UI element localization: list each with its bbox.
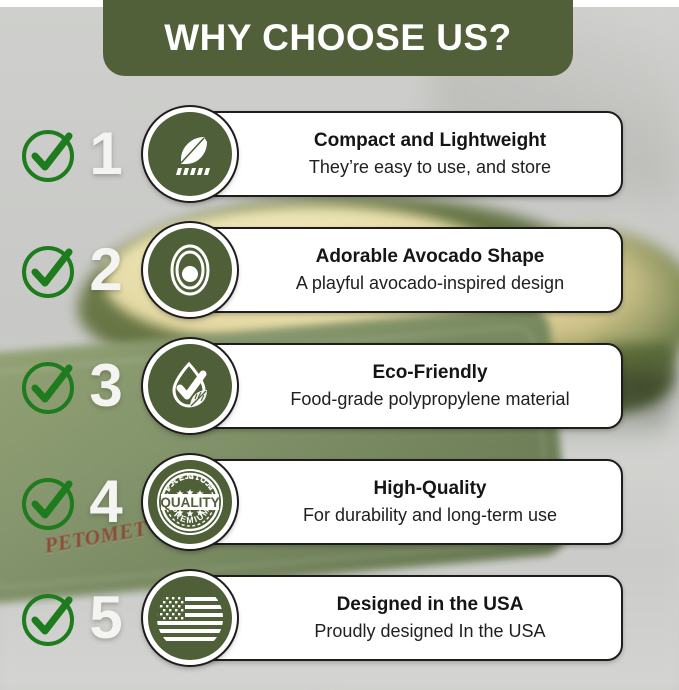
- feather-lightweight-icon: [143, 107, 237, 201]
- feature-number: 1: [80, 124, 132, 184]
- feature-card: Adorable Avocado Shape A playful avocado…: [185, 227, 623, 313]
- check-circle-icon: [17, 471, 79, 533]
- feature-card: Compact and Lightweight They’re easy to …: [185, 111, 623, 197]
- feature-number: 3: [80, 356, 132, 416]
- eco-leaf-check-icon: [143, 339, 237, 433]
- feature-title: Compact and Lightweight: [314, 129, 546, 153]
- feature-subtitle: Food-grade polypropylene material: [290, 388, 569, 411]
- feature-row: 3 Eco-Friendly Food-grade polypropylene …: [0, 328, 679, 444]
- feature-title: Adorable Avocado Shape: [316, 245, 545, 269]
- feature-row: 5: [0, 560, 679, 676]
- usa-flag-icon: [143, 571, 237, 665]
- feature-subtitle: They’re easy to use, and store: [309, 156, 551, 179]
- page-title: WHY CHOOSE US?: [164, 17, 512, 59]
- feature-title: Eco-Friendly: [372, 361, 487, 385]
- infographic-canvas: PETOMET WHY CHOOSE US? 1: [0, 0, 679, 690]
- feature-number: 5: [80, 588, 132, 648]
- feature-title: High-Quality: [374, 477, 487, 501]
- badge-center-text: QUALITY: [160, 495, 219, 510]
- check-circle-icon: [17, 587, 79, 649]
- feature-card: Designed in the USA Proudly designed In …: [185, 575, 623, 661]
- feature-subtitle: A playful avocado-inspired design: [296, 272, 564, 295]
- feature-number: 4: [80, 472, 132, 532]
- feature-row: 2 Adorable Avocado Shape A playful avoca…: [0, 212, 679, 328]
- feature-subtitle: Proudly designed In the USA: [314, 620, 545, 643]
- feature-list: 1 Compact and Lightweight They’re easy t…: [0, 96, 679, 676]
- feature-card: Eco-Friendly Food-grade polypropylene ma…: [185, 343, 623, 429]
- header-banner: WHY CHOOSE US?: [103, 0, 573, 76]
- avocado-half-icon: [143, 223, 237, 317]
- feature-number: 2: [80, 240, 132, 300]
- feature-card: High-Quality For durability and long-ter…: [185, 459, 623, 545]
- feature-row: 4 QUALITY PREMIUM: [0, 444, 679, 560]
- check-circle-icon: [17, 123, 79, 185]
- feature-subtitle: For durability and long-term use: [303, 504, 557, 527]
- feature-row: 1 Compact and Lightweight They’re easy t…: [0, 96, 679, 212]
- check-circle-icon: [17, 355, 79, 417]
- check-circle-icon: [17, 239, 79, 301]
- feature-title: Designed in the USA: [337, 593, 524, 617]
- premium-quality-badge-icon: QUALITY PREMIUM PREMIUM: [143, 455, 237, 549]
